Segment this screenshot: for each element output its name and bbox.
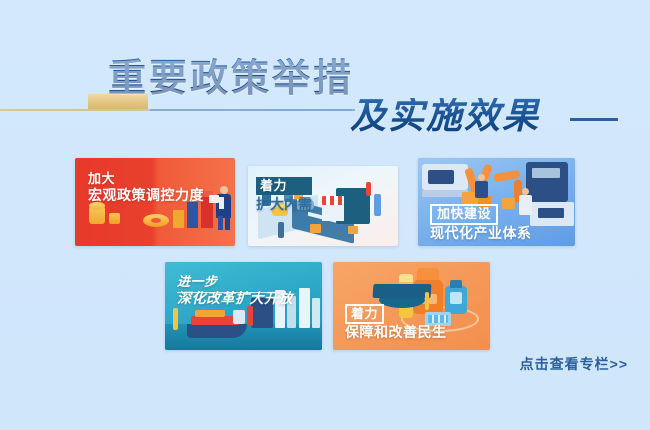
card-label-line1: 进一步 bbox=[177, 274, 293, 290]
page-title-line-1: 重要政策举措 bbox=[108, 58, 354, 98]
bar-chart-bar-1 bbox=[173, 210, 184, 228]
card-macro-policy[interactable]: 加大 宏观政策调控力度 bbox=[75, 158, 235, 246]
tower-icon-4 bbox=[312, 298, 320, 328]
store-front-icon bbox=[322, 205, 344, 221]
card-improve-livelihood[interactable]: 着力 保障和改善民生 bbox=[333, 262, 490, 350]
card-expand-domestic-demand[interactable]: 着力扩大内需 bbox=[248, 166, 398, 246]
ship-bridge-icon bbox=[233, 310, 245, 324]
card-label-line2: 宏观政策调控力度 bbox=[88, 187, 204, 205]
policy-banner: 重要政策举措 及实施效果 加大 宏观政策调控力度 bbox=[0, 0, 650, 430]
card-label: 着力扩大内需 bbox=[256, 177, 312, 215]
worker-body-icon bbox=[475, 181, 488, 198]
parcel-icon-1 bbox=[310, 224, 321, 233]
coin-ring-inner-icon bbox=[151, 218, 161, 223]
store-awning-icon bbox=[322, 196, 344, 205]
card-label-line2: 扩大内需 bbox=[256, 196, 312, 212]
bar-chart-bar-3 bbox=[187, 202, 198, 228]
bottle-cap-icon bbox=[450, 280, 462, 288]
card-label-line1: 加快建设 bbox=[430, 204, 498, 225]
flag-icon bbox=[366, 182, 371, 196]
title-underline-blue bbox=[150, 109, 355, 111]
view-column-link[interactable]: 点击查看专栏>> bbox=[520, 354, 628, 374]
title-trailing-dash bbox=[570, 118, 618, 121]
press-screen-icon bbox=[538, 208, 564, 218]
banner-title-block: 重要政策举措 及实施效果 bbox=[0, 58, 650, 153]
card-label-line2: 现代化产业体系 bbox=[430, 225, 532, 243]
pencil-tip-icon bbox=[399, 274, 413, 282]
machine-screen-icon bbox=[428, 170, 454, 184]
card-label-line2: 深化改革扩大开放 bbox=[177, 290, 293, 308]
graduation-cap-board-icon bbox=[373, 284, 432, 298]
card-label: 加快建设 现代化产业体系 bbox=[430, 204, 532, 243]
card-label: 进一步 深化改革扩大开放 bbox=[177, 274, 293, 308]
card-label-line1: 着力 bbox=[345, 304, 384, 324]
figure-icon-2 bbox=[265, 308, 271, 326]
operator-head-icon bbox=[522, 188, 529, 195]
coin-small-icon bbox=[109, 213, 120, 224]
page-title-line-2: 及实施效果 bbox=[350, 98, 540, 136]
ship-hull-icon bbox=[187, 324, 247, 338]
figure-icon-1 bbox=[247, 306, 253, 326]
pedestrian-icon bbox=[374, 194, 381, 216]
ship-cargo-orange bbox=[195, 310, 225, 317]
crane-post-icon bbox=[173, 308, 178, 330]
card-modern-industrial-system[interactable]: 加快建设 现代化产业体系 bbox=[418, 158, 575, 246]
pedestrian-icon-2 bbox=[278, 222, 284, 238]
ship-cargo-red bbox=[191, 316, 239, 325]
worker-head-icon bbox=[478, 174, 485, 181]
person-head-icon bbox=[220, 186, 228, 194]
parcel-icon-2 bbox=[348, 226, 358, 234]
card-reform-opening-up[interactable]: 进一步 深化改革扩大开放 bbox=[165, 262, 322, 350]
person-leg-right bbox=[225, 216, 230, 230]
tower-icon-3 bbox=[299, 288, 310, 328]
person-shirt-icon bbox=[219, 197, 224, 209]
person-leg-left bbox=[218, 216, 223, 230]
person-clipboard-icon bbox=[209, 195, 219, 203]
card-label-line2: 保障和改善民生 bbox=[345, 324, 447, 342]
card-label: 加大 宏观政策调控力度 bbox=[88, 171, 204, 205]
conveyor-panel-icon bbox=[532, 168, 560, 178]
card-label-line1: 着力 bbox=[256, 177, 312, 195]
card-label: 着力 保障和改善民生 bbox=[345, 304, 447, 342]
bottle-label-icon bbox=[450, 292, 462, 304]
card-label-line1: 加大 bbox=[88, 171, 204, 187]
